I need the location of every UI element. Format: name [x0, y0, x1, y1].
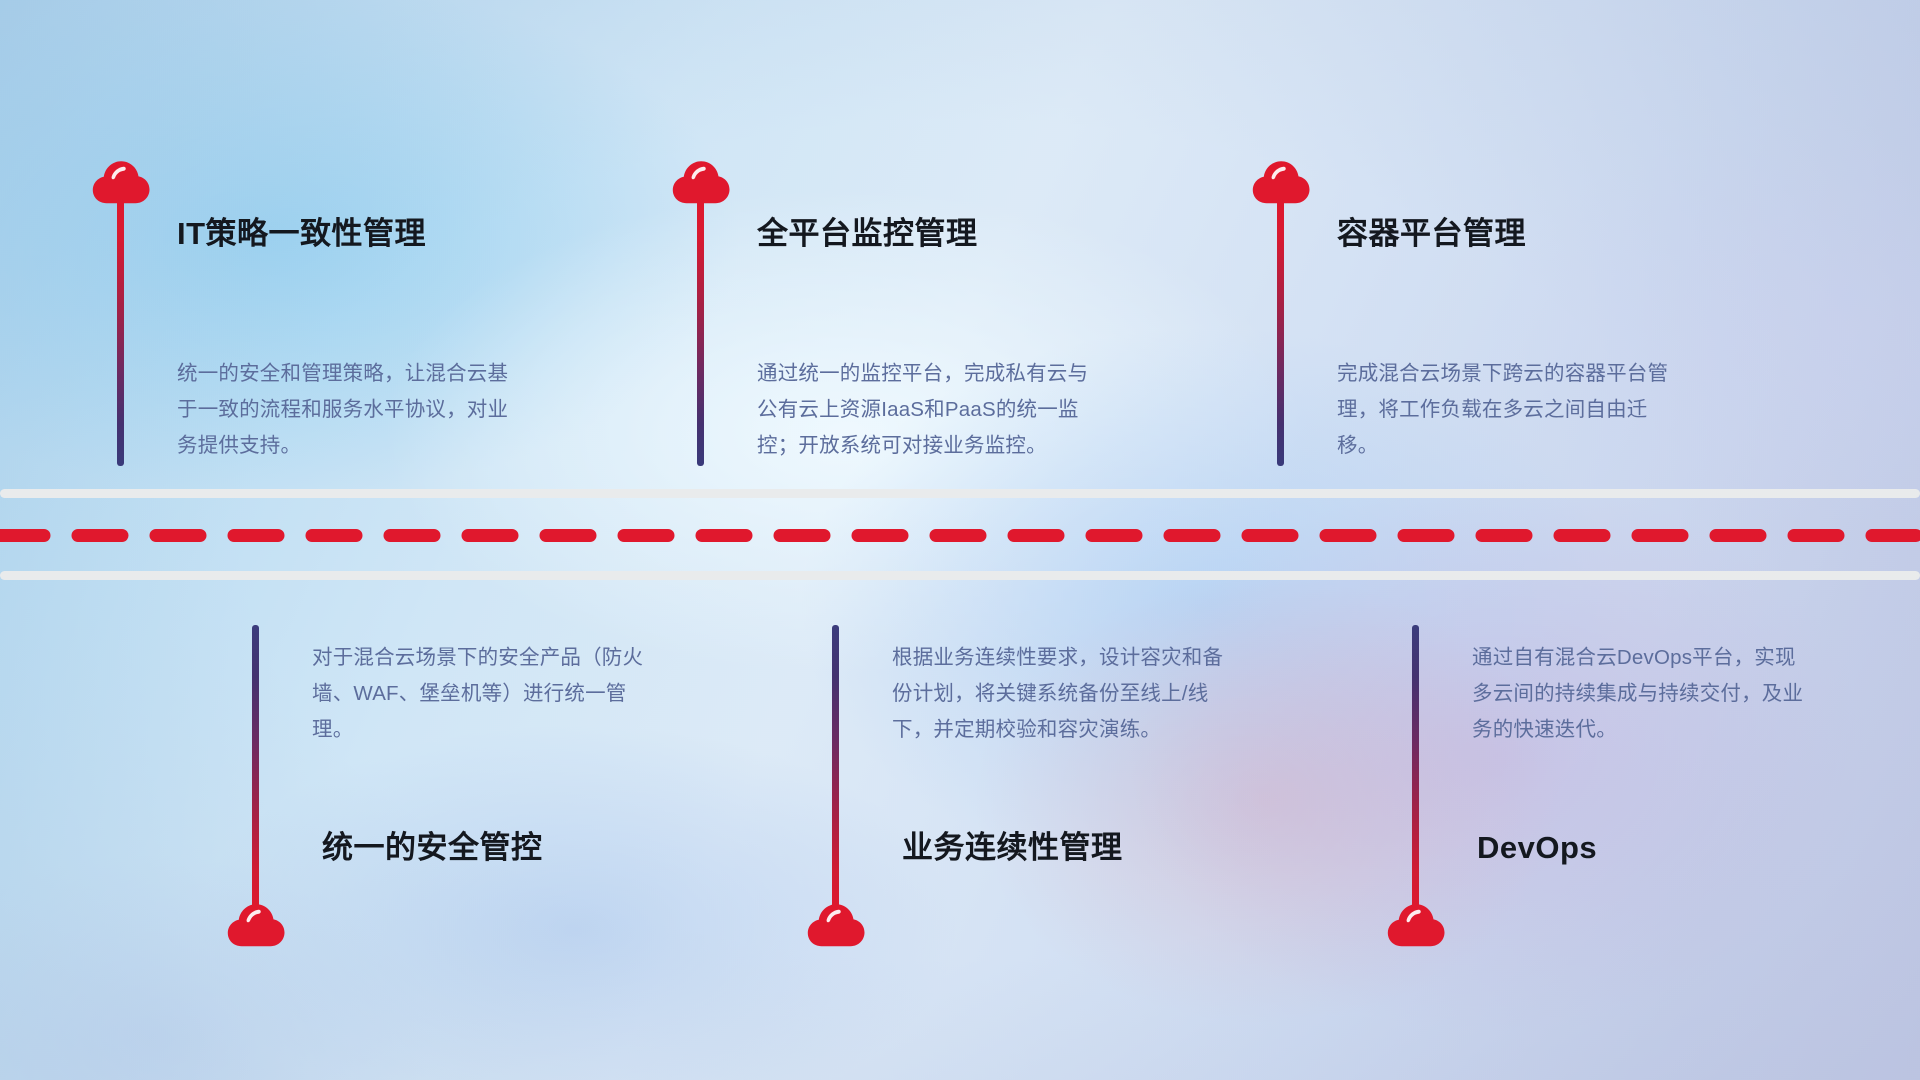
top-heading-2: 全平台监控管理: [757, 218, 978, 249]
bottom-heading-1: 统一的安全管控: [322, 832, 543, 863]
bottom-heading-2: 业务连续性管理: [902, 832, 1123, 863]
top-body-1: 统一的安全和管理策略，让混合云基于一致的流程和服务水平协议，对业务提供支持。: [177, 356, 522, 464]
top-body-3: 完成混合云场景下跨云的容器平台管理，将工作负载在多云之间自由迁移。: [1337, 356, 1682, 464]
bottom-heading-3: DevOps: [1477, 832, 1597, 863]
stem-line: [832, 625, 839, 915]
stem-line: [117, 196, 124, 466]
bottom-body-2: 根据业务连续性要求，设计容灾和备份计划，将关键系统备份至线上/线下，并定期校验和…: [892, 640, 1232, 748]
top-body-2: 通过统一的监控平台，完成私有云与公有云上资源IaaS和PaaS的统一监控；开放系…: [757, 356, 1102, 464]
bottom-body-1: 对于混合云场景下的安全产品（防火墙、WAF、堡垒机等）进行统一管理。: [312, 640, 652, 748]
bottom-body-3: 通过自有混合云DevOps平台，实现多云间的持续集成与持续交付，及业务的快速迭代…: [1472, 640, 1812, 748]
stem-line: [252, 625, 259, 915]
divider-rail-top: [0, 489, 1920, 498]
top-heading-1: IT策略一致性管理: [177, 218, 426, 249]
top-heading-3: 容器平台管理: [1337, 218, 1526, 249]
cloud-icon: [1387, 903, 1445, 947]
stem-line: [697, 196, 704, 466]
cloud-icon: [227, 903, 285, 947]
infographic-stage: IT策略一致性管理 统一的安全和管理策略，让混合云基于一致的流程和服务水平协议，…: [0, 0, 1920, 1080]
stem-line: [1277, 196, 1284, 466]
divider-dashed-line: [0, 529, 1920, 542]
cloud-icon: [807, 903, 865, 947]
divider-rail-bottom: [0, 571, 1920, 580]
stem-line: [1412, 625, 1419, 915]
